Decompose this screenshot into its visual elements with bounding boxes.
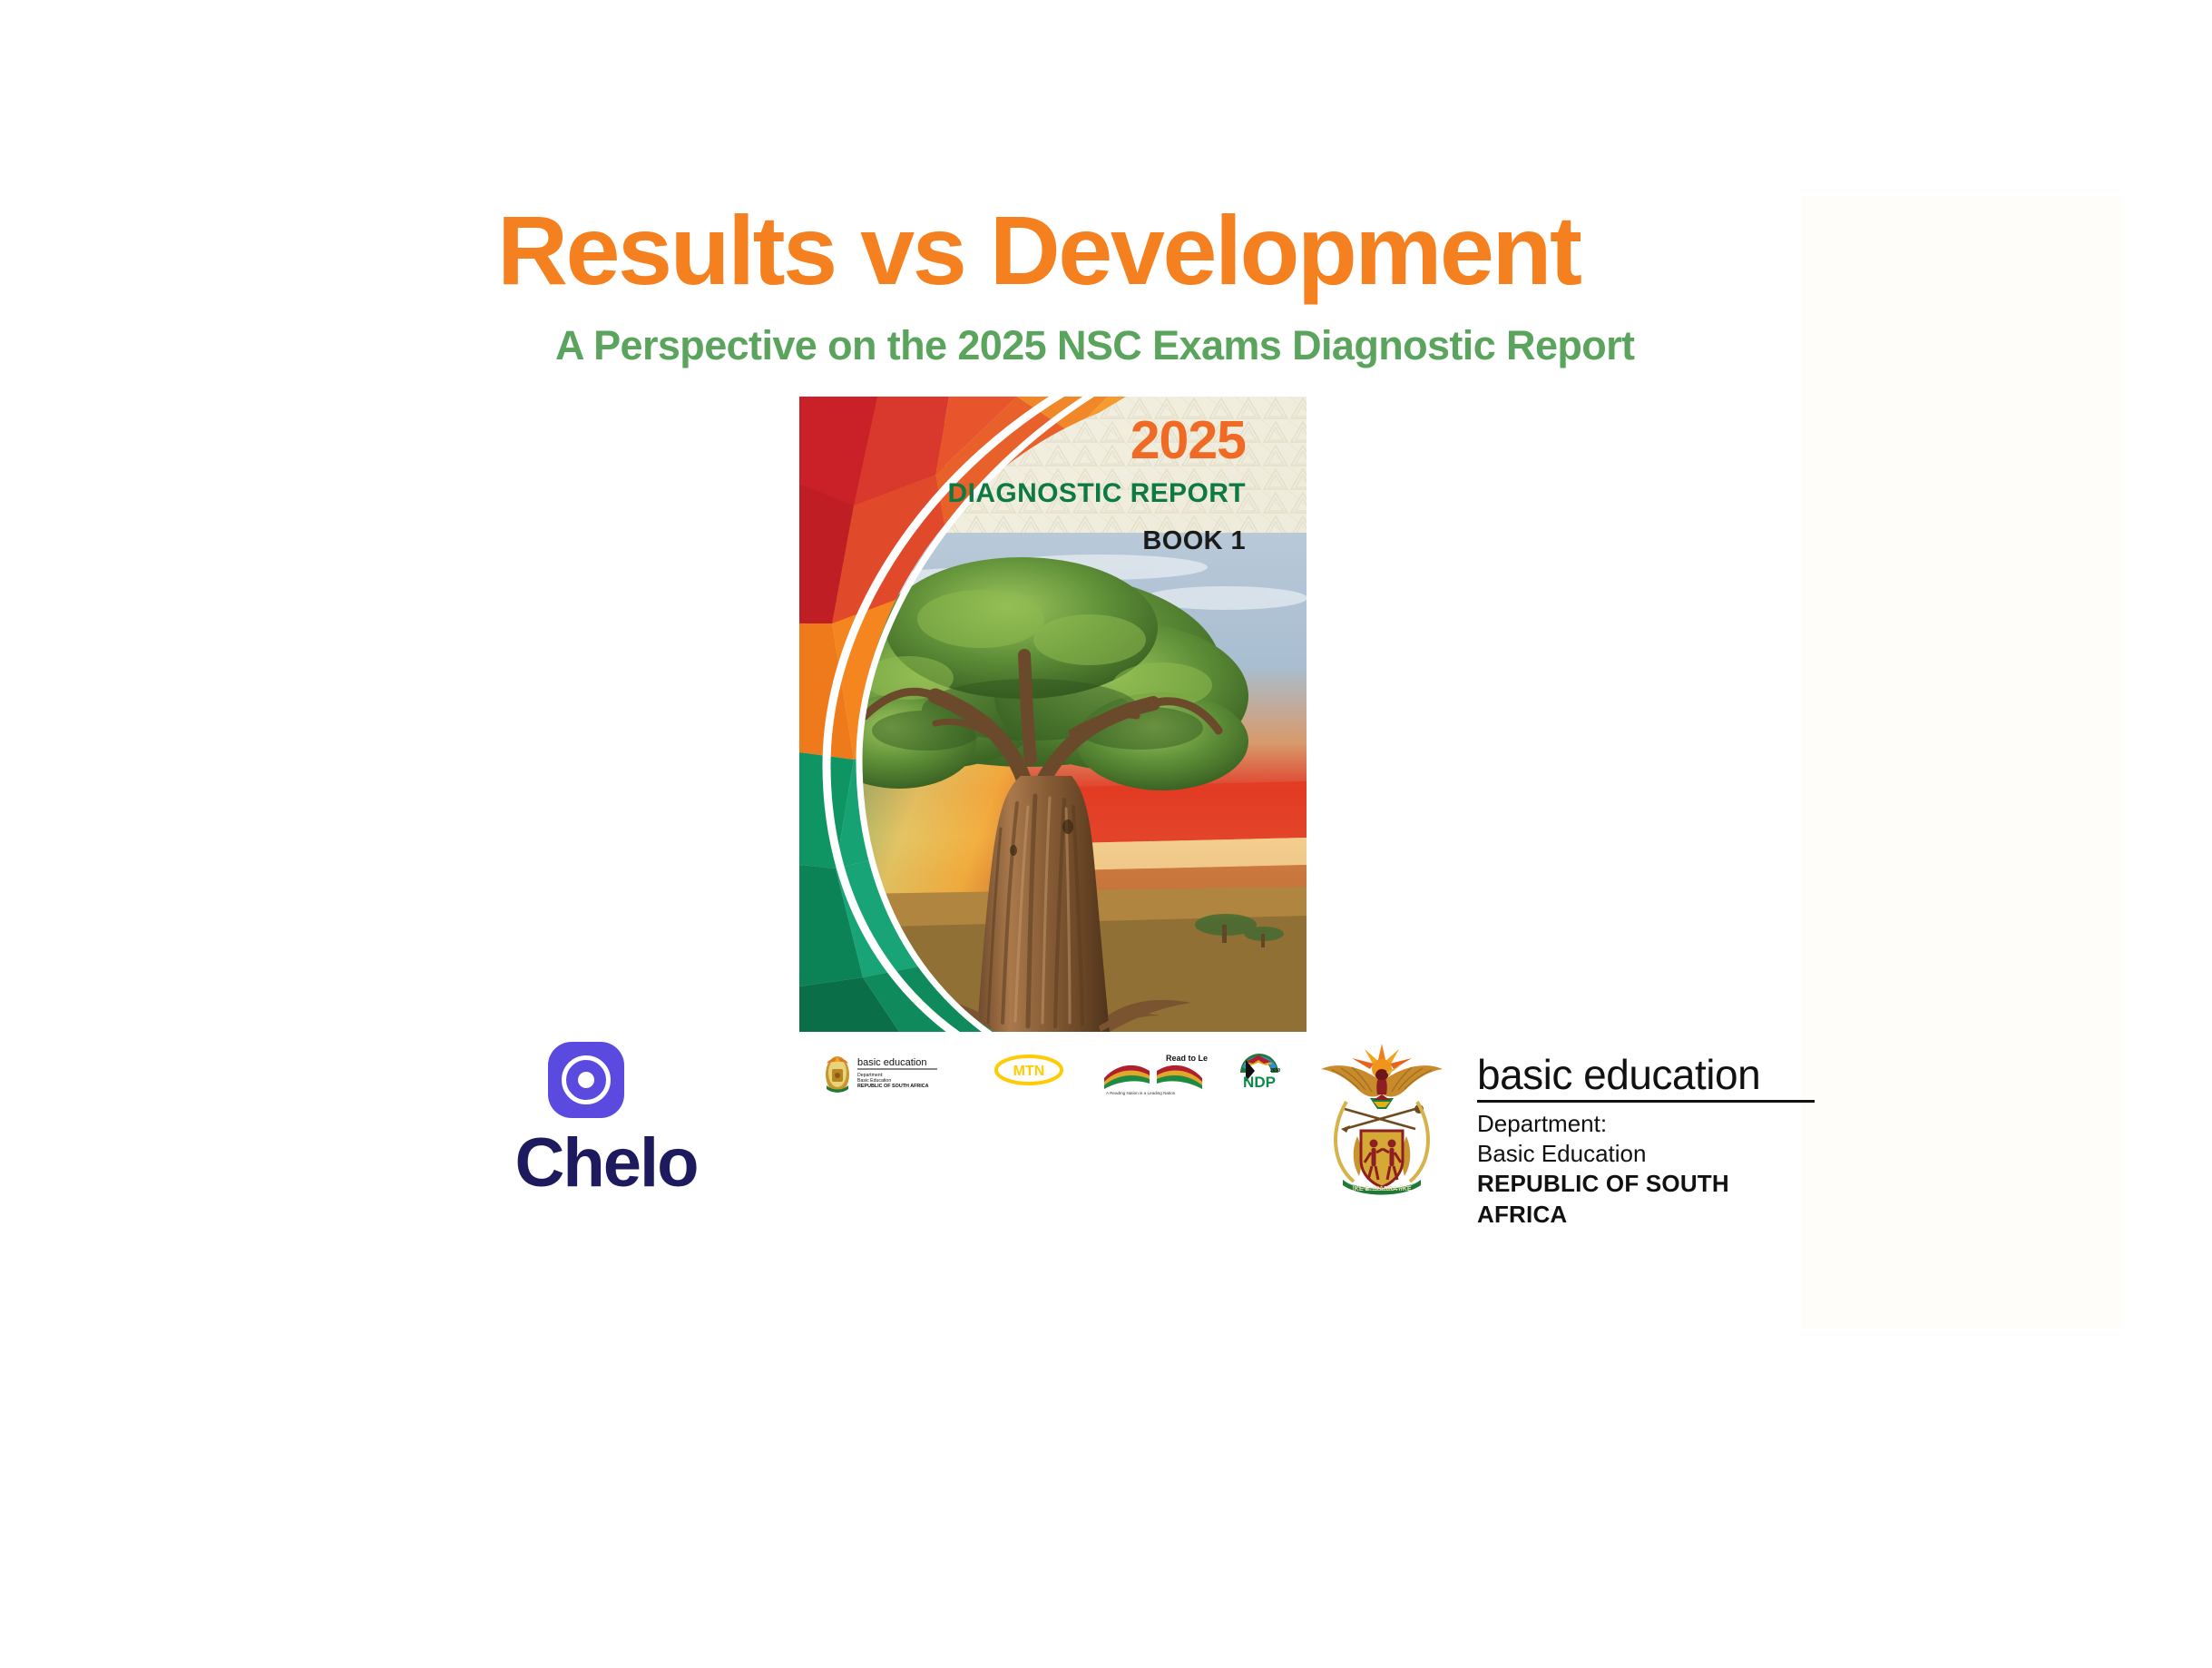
chelo-app-icon	[548, 1042, 624, 1118]
diagnostic-report-cover: 2025 DIAGNOSTIC REPORT BOOK 1	[799, 397, 1307, 1032]
logo-mtn: MTN	[979, 1051, 1079, 1096]
mtn-label: MTN	[1013, 1064, 1045, 1079]
svg-text:REPUBLIC OF SOUTH AFRICA: REPUBLIC OF SOUTH AFRICA	[857, 1084, 929, 1089]
page-title: Results vs Development	[497, 201, 1749, 299]
basic-education-small-svg: basic education Department: Basic Educat…	[819, 1051, 964, 1096]
logo-basic-education-label: basic education	[857, 1057, 926, 1068]
dbe-line-basic-education: Basic Education	[1477, 1139, 1815, 1169]
coat-of-arms-motto: !KE E: /XARRA //KE	[1352, 1186, 1411, 1192]
partner-logo-strip: basic education Department: Basic Educat…	[799, 1051, 1326, 1102]
cover-artwork: 2025 DIAGNOSTIC REPORT BOOK 1	[799, 397, 1307, 1032]
ndp-year: 2030	[1270, 1068, 1280, 1074]
dbe-line-republic: REPUBLIC OF SOUTH AFRICA	[1477, 1169, 1815, 1230]
coat-of-arms-svg: !KE E: /XARRA //KE	[1314, 1042, 1450, 1198]
read-to-lead-svg: Read to Lead A Reading Nation is a Leadi…	[1099, 1051, 1208, 1096]
logo-read-to-lead: Read to Lead A Reading Nation is a Leadi…	[1099, 1051, 1208, 1096]
spear-and-knobkierie	[1345, 1109, 1415, 1129]
mtn-svg: MTN	[979, 1051, 1079, 1096]
chelo-brand: Chelo	[497, 1042, 715, 1214]
read-to-lead-tagline: A Reading Nation is a Leading Nation	[1106, 1091, 1176, 1095]
chelo-wordmark: Chelo	[497, 1129, 715, 1198]
concentric-circle-icon	[562, 1055, 611, 1104]
read-to-lead-label: Read to Lead	[1166, 1054, 1208, 1063]
ndp-label: NDP	[1243, 1074, 1276, 1091]
dbe-divider	[1477, 1100, 1815, 1103]
cover-year: 2025	[1130, 410, 1246, 470]
south-africa-coat-of-arms: !KE E: /XARRA //KE	[1314, 1042, 1450, 1198]
chelo-icon-dot	[578, 1072, 594, 1088]
dbe-logo-lockup: !KE E: /XARRA //KE basic education Depar…	[1314, 1042, 1822, 1205]
logo-ndp: NDP 2030	[1219, 1051, 1300, 1096]
cover-report-label: DIAGNOSTIC REPORT	[948, 478, 1246, 508]
dbe-text-block: basic education Department: Basic Educat…	[1477, 1053, 1815, 1230]
logo-basic-education-small: basic education Department: Basic Educat…	[819, 1051, 964, 1096]
page-subtitle: A Perspective on the 2025 NSC Exams Diag…	[555, 325, 1753, 366]
dbe-line-department: Department:	[1477, 1109, 1815, 1139]
cover-book-label: BOOK 1	[1142, 526, 1246, 555]
right-cream-panel	[1801, 195, 2123, 1329]
dbe-heading: basic education	[1477, 1053, 1815, 1097]
ndp-svg: NDP 2030	[1219, 1051, 1300, 1096]
coat-of-arms-mini	[826, 1056, 849, 1093]
